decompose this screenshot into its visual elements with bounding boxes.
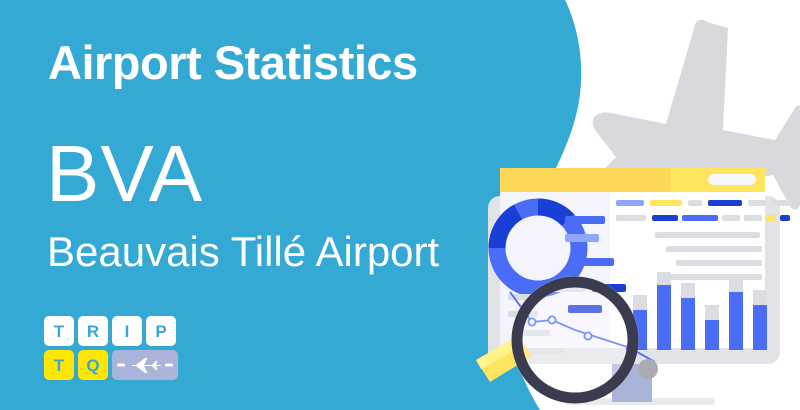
banner-text-block: Airport Statistics BVA Beauvais Tillé Ai… xyxy=(0,0,520,410)
airplane-icon xyxy=(115,354,175,376)
logo-tile-p: P xyxy=(146,316,176,346)
airport-statistics-banner: Airport Statistics BVA Beauvais Tillé Ai… xyxy=(0,0,800,410)
bar-group-3 xyxy=(681,283,695,350)
bar-group-2 xyxy=(657,272,671,350)
logo-row-top: T R I P xyxy=(44,316,178,346)
logo-tile-t2: T xyxy=(44,350,74,380)
analytics-dashboard-illustration xyxy=(470,0,800,410)
window-pill xyxy=(708,174,756,185)
monitor-title-bar-left xyxy=(500,168,670,192)
airport-name: Beauvais Tillé Airport xyxy=(47,228,439,276)
logo-tile-q: Q xyxy=(78,350,108,380)
logo-tile-t1: T xyxy=(44,316,74,346)
bar-group-4 xyxy=(705,305,719,350)
page-title: Airport Statistics xyxy=(48,38,418,87)
bar-group-6 xyxy=(753,290,767,350)
logo-tile-i: I xyxy=(112,316,142,346)
logo-tile-r: R xyxy=(78,316,108,346)
iata-code: BVA xyxy=(46,134,203,214)
logo-row-bottom: T Q xyxy=(44,350,178,380)
bar-group-5 xyxy=(729,278,743,350)
triptq-logo[interactable]: T R I P T Q xyxy=(44,316,178,384)
logo-tile-plane xyxy=(112,350,178,380)
